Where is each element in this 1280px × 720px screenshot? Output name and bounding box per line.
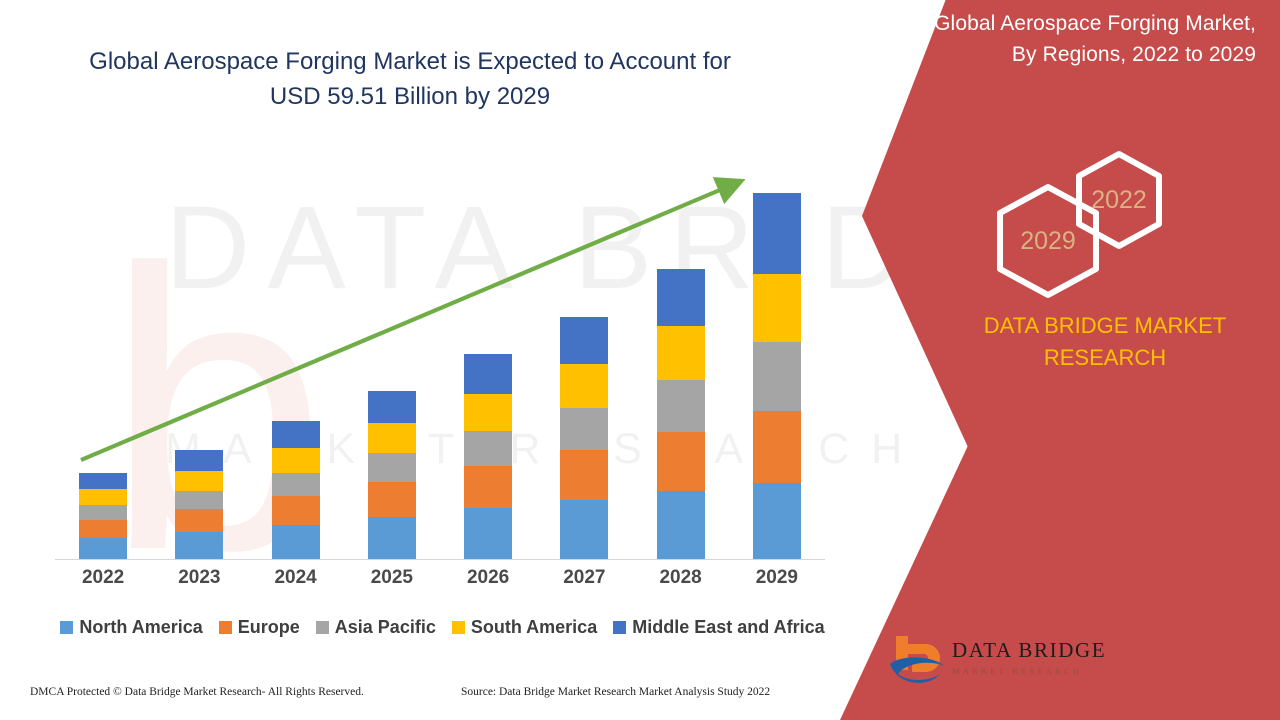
bar-slot: [633, 170, 729, 559]
logo-subtitle: MARKET RESEARCH: [952, 666, 1106, 676]
bar-segment[interactable]: [79, 473, 127, 489]
hexagon-badge-start-year: 2022: [1073, 150, 1165, 250]
legend-swatch-icon: [452, 621, 465, 634]
page-title-line-2: USD 59.51 Billion by 2029: [40, 79, 780, 114]
x-axis-tick-label: 2023: [151, 567, 247, 597]
legend-label: Asia Pacific: [335, 617, 436, 638]
page-title: Global Aerospace Forging Market is Expec…: [40, 44, 780, 114]
bar-segment[interactable]: [753, 342, 801, 411]
bar-segment[interactable]: [753, 193, 801, 274]
bar-segment[interactable]: [560, 450, 608, 500]
bar-slot: [729, 170, 825, 559]
x-axis-labels: 20222023202420252026202720282029: [55, 567, 825, 597]
x-axis-tick-label: 2022: [55, 567, 151, 597]
stacked-bar[interactable]: [368, 391, 416, 559]
logo-mark-icon: [888, 630, 950, 692]
legend-label: Europe: [238, 617, 300, 638]
bar-segment[interactable]: [368, 482, 416, 517]
brand-name-line-2: RESEARCH: [940, 342, 1270, 374]
bar-segment[interactable]: [464, 394, 512, 431]
source-note: Source: Data Bridge Market Research Mark…: [461, 686, 770, 698]
bar-segment[interactable]: [560, 408, 608, 450]
bar-slot: [151, 170, 247, 559]
legend-label: South America: [471, 617, 597, 638]
bar-slot: [248, 170, 344, 559]
brand-name-line-1: DATA BRIDGE MARKET: [940, 310, 1270, 342]
bar-segment[interactable]: [368, 453, 416, 482]
bar-segment[interactable]: [272, 448, 320, 473]
x-axis-tick-label: 2026: [440, 567, 536, 597]
bar-segment[interactable]: [272, 525, 320, 559]
stacked-bar[interactable]: [560, 317, 608, 559]
chart-legend: North AmericaEuropeAsia PacificSouth Ame…: [55, 612, 830, 642]
legend-label: North America: [79, 617, 202, 638]
bar-segment[interactable]: [657, 432, 705, 492]
legend-swatch-icon: [613, 621, 626, 634]
stacked-bar[interactable]: [175, 450, 223, 559]
hexagon-start-year-label: 2022: [1091, 186, 1147, 215]
legend-swatch-icon: [219, 621, 232, 634]
legend-item[interactable]: Asia Pacific: [316, 617, 436, 638]
x-axis-tick-label: 2029: [729, 567, 825, 597]
bar-slot: [440, 170, 536, 559]
brand-name: DATA BRIDGE MARKET RESEARCH: [940, 310, 1270, 374]
x-axis-tick-label: 2027: [536, 567, 632, 597]
bar-segment[interactable]: [368, 391, 416, 423]
bar-segment[interactable]: [560, 317, 608, 364]
bar-segment[interactable]: [368, 423, 416, 453]
bar-segment[interactable]: [175, 509, 223, 532]
stacked-bar[interactable]: [272, 421, 320, 559]
company-logo: DATA BRIDGE MARKET RESEARCH: [888, 630, 1118, 700]
legend-swatch-icon: [316, 621, 329, 634]
bar-slot: [536, 170, 632, 559]
legend-item[interactable]: Middle East and Africa: [613, 617, 824, 638]
bar-segment[interactable]: [657, 380, 705, 432]
legend-swatch-icon: [60, 621, 73, 634]
bar-segment[interactable]: [272, 496, 320, 525]
bar-segment[interactable]: [560, 500, 608, 559]
infographic-canvas: b DATA BRIDGE MARKET RESEARCH Global Aer…: [0, 0, 1280, 720]
stacked-bar[interactable]: [464, 354, 512, 559]
bar-segment[interactable]: [175, 450, 223, 471]
stacked-bar[interactable]: [79, 473, 127, 559]
bar-segment[interactable]: [464, 354, 512, 393]
x-axis-tick-label: 2024: [248, 567, 344, 597]
bar-segment[interactable]: [175, 532, 223, 559]
panel-title-line-2: By Regions, 2022 to 2029: [876, 39, 1256, 70]
bar-segment[interactable]: [79, 489, 127, 505]
bar-segment[interactable]: [657, 269, 705, 326]
bar-segment[interactable]: [753, 411, 801, 483]
bar-segment[interactable]: [79, 538, 127, 559]
bar-segment[interactable]: [175, 471, 223, 491]
legend-item[interactable]: North America: [60, 617, 202, 638]
x-axis-tick-label: 2025: [344, 567, 440, 597]
bar-segment[interactable]: [657, 326, 705, 380]
bar-segment[interactable]: [272, 473, 320, 496]
bar-segment[interactable]: [657, 491, 705, 559]
logo-name: DATA BRIDGE: [952, 638, 1106, 663]
bar-segment[interactable]: [753, 274, 801, 343]
bar-slot: [55, 170, 151, 559]
bar-segment[interactable]: [175, 491, 223, 509]
logo-text: DATA BRIDGE MARKET RESEARCH: [952, 638, 1106, 676]
bar-slot: [344, 170, 440, 559]
bar-segment[interactable]: [79, 520, 127, 538]
x-axis-line: [55, 559, 825, 560]
bar-segment[interactable]: [79, 505, 127, 520]
bar-segment[interactable]: [464, 508, 512, 559]
legend-label: Middle East and Africa: [632, 617, 824, 638]
stacked-bar[interactable]: [753, 193, 801, 559]
copyright-notice: DMCA Protected © Data Bridge Market Rese…: [30, 686, 364, 698]
hexagon-end-year-label: 2029: [1020, 227, 1076, 256]
bar-segment[interactable]: [464, 431, 512, 466]
stacked-bar-group: [55, 170, 825, 559]
panel-title: Global Aerospace Forging Market, By Regi…: [876, 8, 1256, 70]
hexagon-badges: 2029 2022: [985, 150, 1185, 290]
stacked-bar[interactable]: [657, 269, 705, 559]
chart-plot-area: [55, 170, 825, 560]
legend-item[interactable]: Europe: [219, 617, 300, 638]
bar-segment[interactable]: [368, 517, 416, 559]
bar-segment[interactable]: [753, 483, 801, 559]
panel-title-line-1: Global Aerospace Forging Market,: [876, 8, 1256, 39]
x-axis-tick-label: 2028: [633, 567, 729, 597]
legend-item[interactable]: South America: [452, 617, 597, 638]
page-title-line-1: Global Aerospace Forging Market is Expec…: [40, 44, 780, 79]
bar-segment[interactable]: [560, 364, 608, 408]
bar-segment[interactable]: [272, 421, 320, 447]
bar-segment[interactable]: [464, 466, 512, 509]
